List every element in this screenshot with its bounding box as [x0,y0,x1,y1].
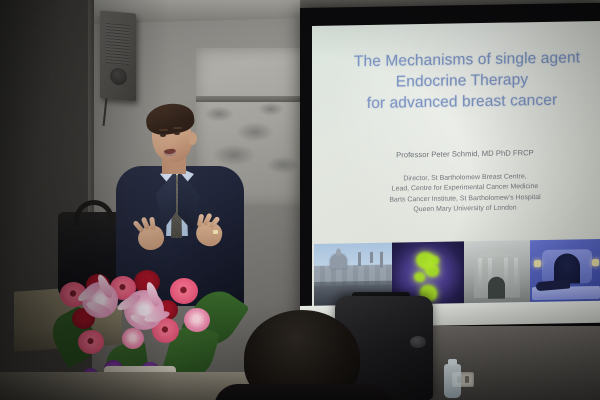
front-table [0,372,250,400]
speaker-grille [106,23,129,65]
presentation-slide: The Mechanisms of single agent Endocrine… [312,21,600,314]
hospital-building-photo [464,240,530,307]
lecture-photo-scene: The Mechanisms of single agent Endocrine… [0,0,600,400]
chair-adjuster-knob [410,336,426,348]
speaker-eye-right [174,132,180,135]
speaker-ear [188,132,197,145]
slide-presenter-name: Professor Peter Schmid, MD PhD FRCP [326,147,600,161]
speaker-cone [110,67,127,85]
slide-title: The Mechanisms of single agent Endocrine… [320,47,600,115]
slide-affiliation: Director, St Bartholomew Breast Centre, … [326,171,600,217]
speaker-brow-left [159,129,168,131]
speaker-ring [213,230,218,234]
water-bottle-2 [444,364,461,398]
speaker-eye-left [160,134,166,137]
mri-scanner-photo [530,239,600,306]
audience-member-shoulders [214,384,394,400]
speaker-brow-right [173,127,182,129]
slide-title-line-3: for advanced breast cancer [320,89,600,115]
